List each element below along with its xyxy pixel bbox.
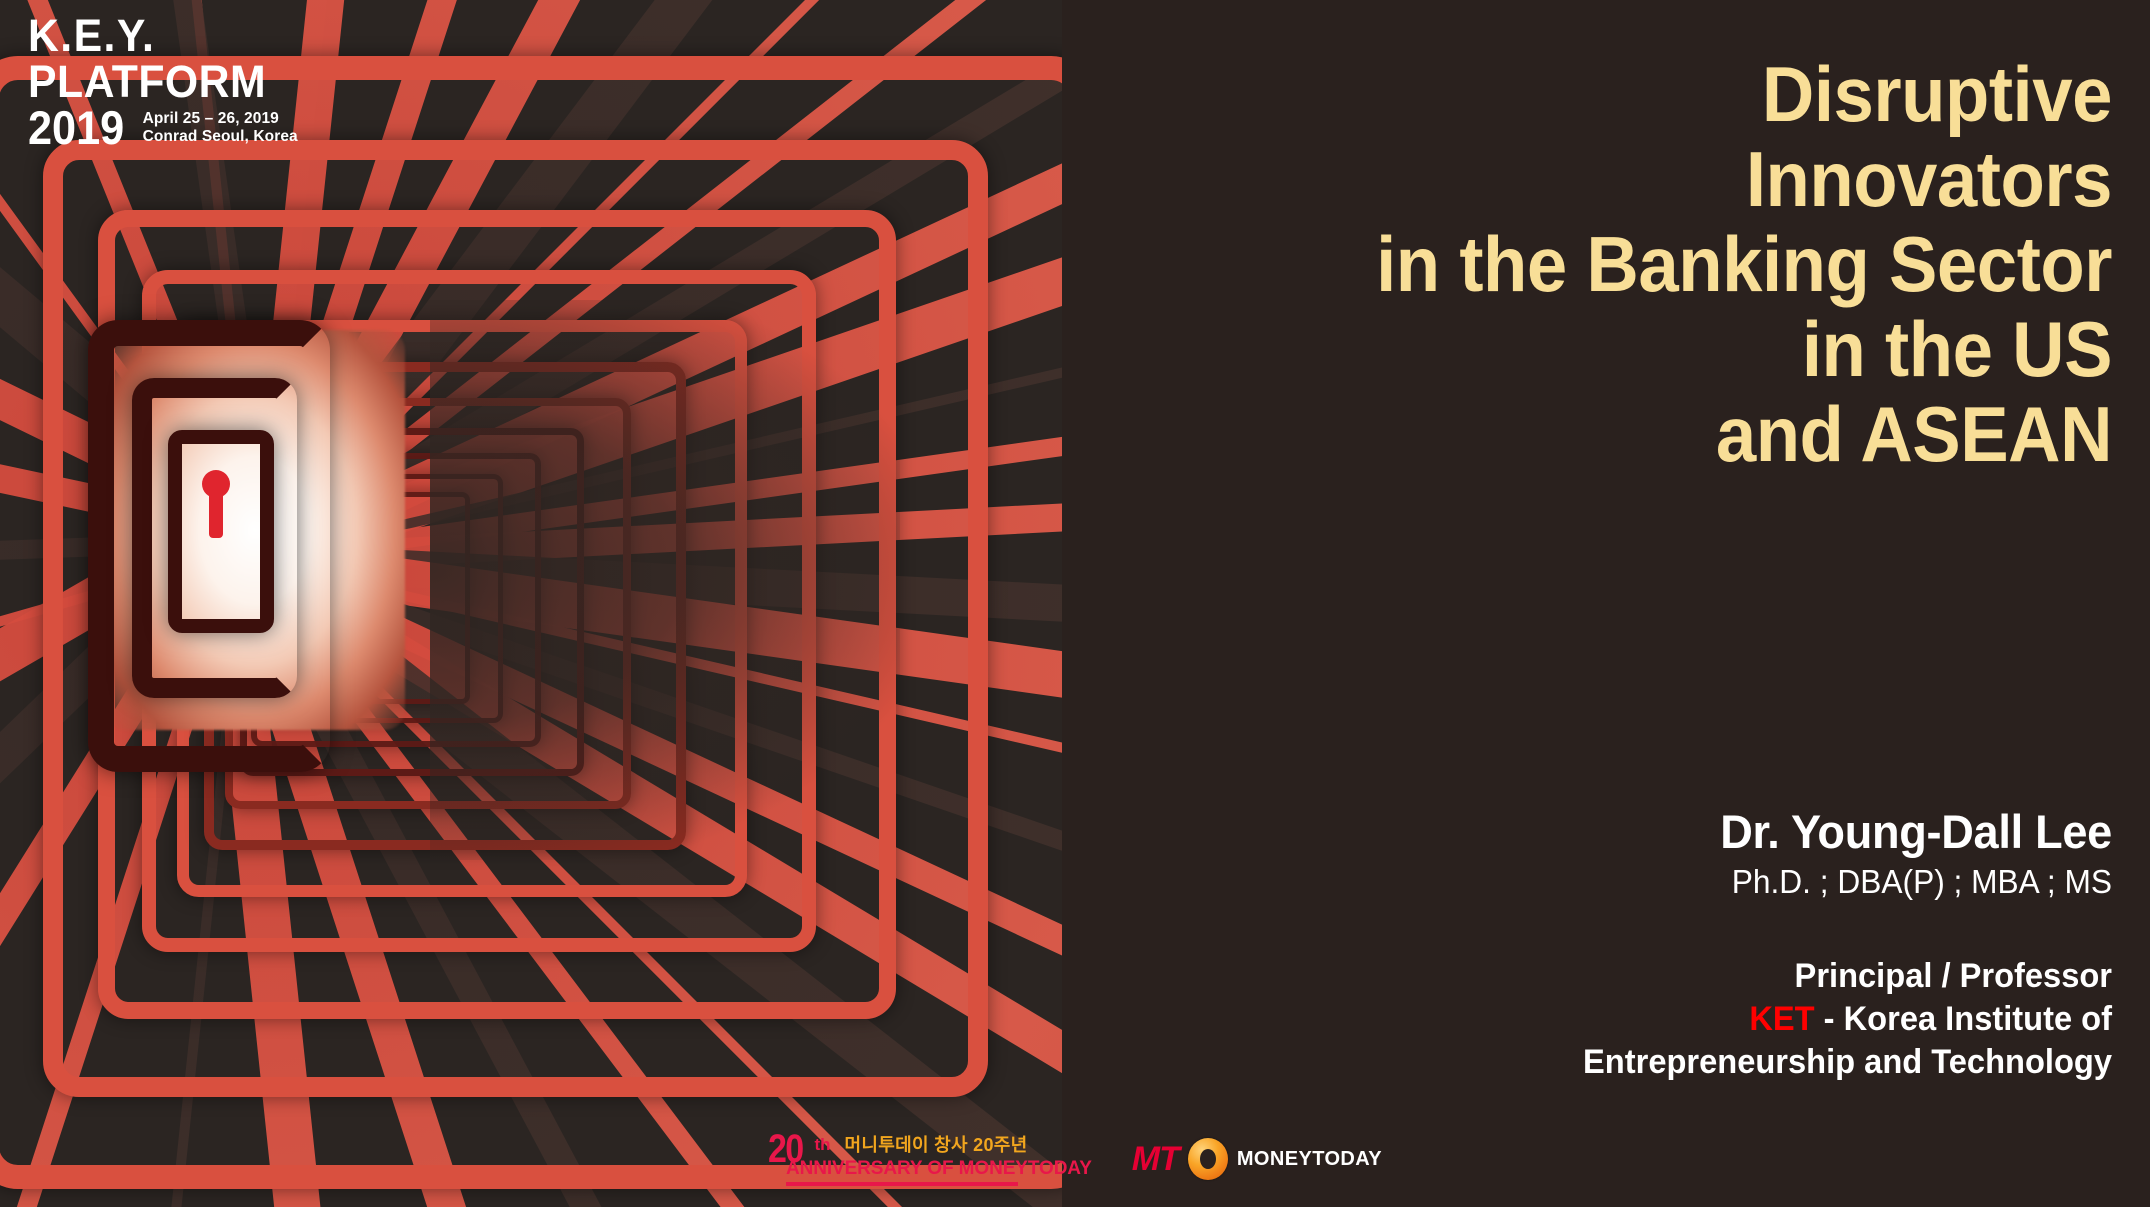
presentation-slide: K.E.Y. PLATFORM 2019 April 25 – 26, 2019… <box>0 0 2150 1207</box>
speaker-name: Dr. Young-Dall Lee <box>1133 806 2112 858</box>
logo-line-platform: PLATFORM <box>28 58 284 106</box>
anniversary-underline <box>786 1182 1018 1186</box>
keyhole-stem <box>209 490 223 538</box>
logo-date: April 25 – 26, 2019 <box>143 110 298 128</box>
logo-year-date-row: 2019 April 25 – 26, 2019 Conrad Seoul, K… <box>28 106 298 150</box>
title-line-4: in the US <box>1163 307 2112 392</box>
title-line-3: in the Banking Sector <box>1163 222 2112 307</box>
moneytoday-mark: MT <box>1132 1142 1179 1176</box>
speaker-credentials: Ph.D. ; DBA(P) ; MBA ; MS <box>1133 862 2112 902</box>
affiliation-role: Principal / Professor <box>1133 955 2112 998</box>
affiliation-org-line-2: Entrepreneurship and Technology <box>1133 1041 2112 1084</box>
slide-title: Disruptive Innovators in the Banking Sec… <box>1163 52 2112 477</box>
tunnel-depth-shading <box>430 300 900 860</box>
logo-year: 2019 <box>28 106 124 150</box>
title-line-1: Disruptive <box>1163 52 2112 137</box>
event-logo: K.E.Y. PLATFORM 2019 April 25 – 26, 2019… <box>28 14 298 150</box>
content-panel: Disruptive Innovators in the Banking Sec… <box>1062 0 2150 1207</box>
footer-logos: 20 th 머니투데이 창사 20주년 ANNIVERSARY OF MONEY… <box>0 1111 2150 1207</box>
moneytoday-logo: MT MONEYTODAY <box>1132 1138 1382 1180</box>
anniversary-logo: 20 th 머니투데이 창사 20주년 ANNIVERSARY OF MONEY… <box>768 1133 1092 1186</box>
affiliation-org-line-1: KET - Korea Institute of <box>1133 998 2112 1041</box>
anniversary-number: 20 <box>768 1133 802 1165</box>
keyhole-icon <box>198 470 234 550</box>
anniversary-subtitle: ANNIVERSARY OF MONEYTODAY <box>786 1159 1092 1179</box>
moneytoday-wordmark: MONEYTODAY <box>1237 1149 1382 1169</box>
logo-date-venue: April 25 – 26, 2019 Conrad Seoul, Korea <box>143 110 298 150</box>
moneytoday-ring-icon <box>1188 1138 1228 1180</box>
org-abbrev-ket: KET <box>1749 1000 1814 1038</box>
logo-line-key: K.E.Y. <box>28 14 284 58</box>
org-line-1-rest: - Korea Institute of <box>1815 1000 2112 1038</box>
logo-venue: Conrad Seoul, Korea <box>143 128 298 146</box>
title-line-2: Innovators <box>1163 137 2112 222</box>
title-line-5: and ASEAN <box>1163 392 2112 477</box>
speaker-block: Dr. Young-Dall Lee Ph.D. ; DBA(P) ; MBA … <box>1092 806 2112 902</box>
key-tunnel-artwork <box>0 0 1062 1207</box>
speaker-affiliation: Principal / Professor KET - Korea Instit… <box>1133 955 2112 1084</box>
